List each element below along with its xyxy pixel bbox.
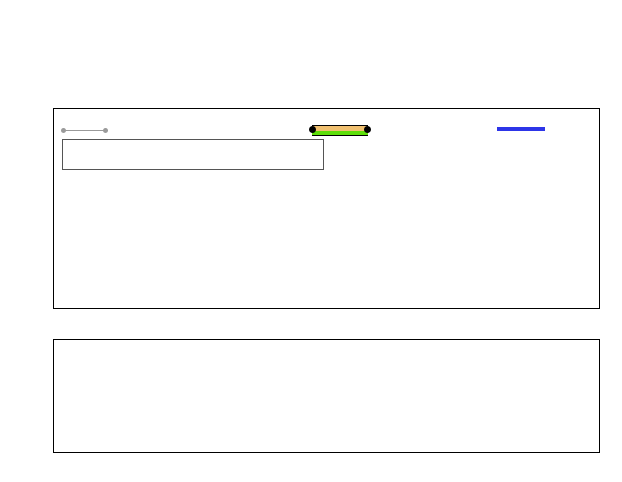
chart-page [0, 0, 622, 482]
daily-precip-svg [0, 0, 622, 482]
